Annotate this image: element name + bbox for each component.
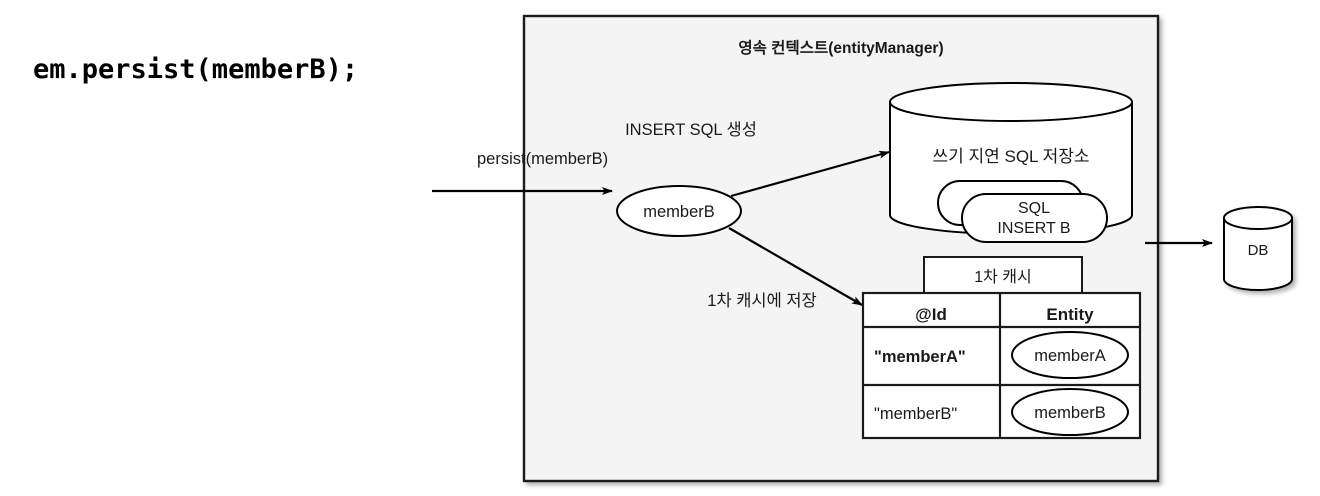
first-cache-row-1-id: "memberB" bbox=[874, 405, 957, 423]
first-cache-header-entity: Entity bbox=[1046, 305, 1094, 324]
first-cache-header-id: @Id bbox=[915, 305, 947, 324]
queued-sql-line2: INSERT B bbox=[997, 220, 1070, 237]
first-cache-caption: 1차 캐시 bbox=[974, 268, 1032, 286]
persistence-context-title: 영속 컨텍스트(entityManager) bbox=[738, 39, 943, 57]
first-cache-arrow-label: 1차 캐시에 저장 bbox=[707, 291, 816, 310]
memberb-entity-node: memberB bbox=[617, 186, 741, 236]
diagram-canvas: em.persist(memberB); 영속 컨텍스트(entityManag… bbox=[0, 0, 1320, 496]
database-cylinder-top bbox=[1224, 207, 1292, 229]
database-label: DB bbox=[1248, 242, 1269, 259]
jpa-persistence-context-diagram: 영속 컨텍스트(entityManager) persist(memberB) … bbox=[0, 0, 1320, 496]
memberb-ellipse-label: memberB bbox=[643, 203, 715, 221]
first-cache-row-1-entity-label: memberB bbox=[1034, 404, 1106, 422]
queued-sql-line1: SQL bbox=[1018, 200, 1050, 217]
queued-sql-card-front: SQL INSERT B bbox=[962, 194, 1107, 242]
first-cache-row-0-id: "memberA" bbox=[874, 348, 966, 366]
sql-store-cylinder-top bbox=[890, 83, 1132, 121]
database-node: DB bbox=[1224, 207, 1292, 290]
persist-call-label: persist(memberB) bbox=[477, 150, 608, 168]
sql-store-title: 쓰기 지연 SQL 저장소 bbox=[932, 147, 1089, 166]
insert-sql-arrow-label: INSERT SQL 생성 bbox=[625, 120, 757, 139]
first-cache-row-0-entity-label: memberA bbox=[1034, 347, 1106, 365]
write-behind-sql-store: 쓰기 지연 SQL 저장소 SQL INSERT B bbox=[890, 83, 1132, 242]
